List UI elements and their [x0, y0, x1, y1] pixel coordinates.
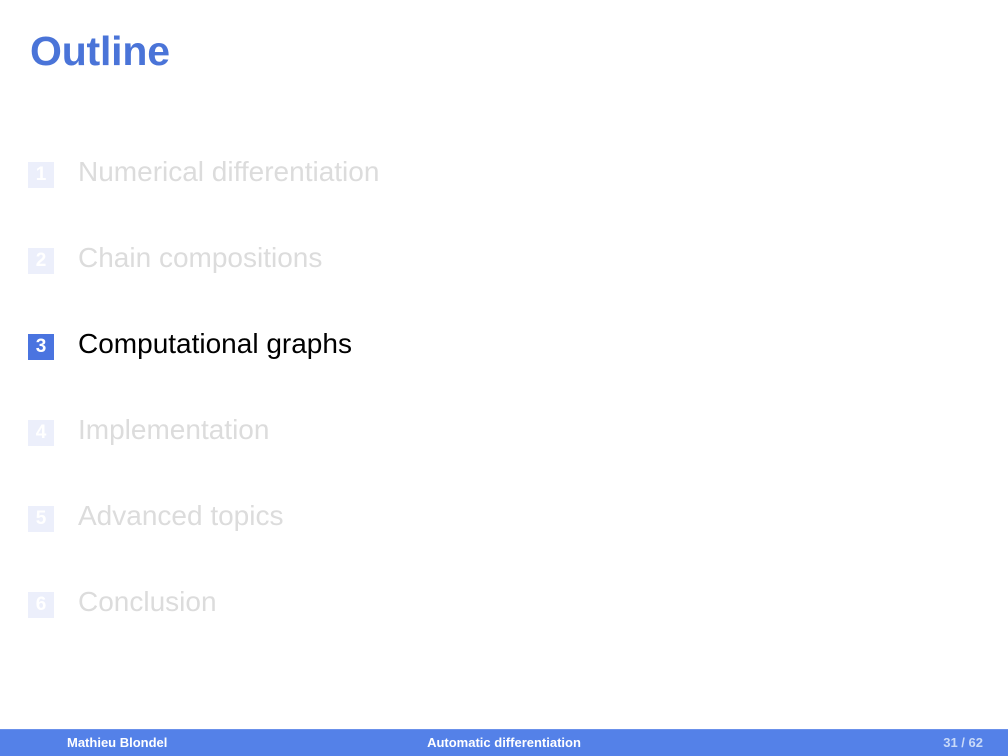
outline-item-number: 1 [28, 162, 54, 188]
outline-item-1[interactable]: 1 Numerical differentiation [0, 149, 1008, 235]
slide-canvas: Outline 1 Numerical differentiation 2 Ch… [0, 0, 1008, 756]
outline-item-number: 5 [28, 506, 54, 532]
outline-list: 1 Numerical differentiation 2 Chain comp… [0, 149, 1008, 665]
outline-item-5[interactable]: 5 Advanced topics [0, 493, 1008, 579]
outline-item-number: 3 [28, 334, 54, 360]
outline-item-2[interactable]: 2 Chain compositions [0, 235, 1008, 321]
outline-item-label: Conclusion [78, 585, 217, 619]
outline-item-number: 6 [28, 592, 54, 618]
footer-presentation-title: Automatic differentiation [0, 735, 1008, 750]
page-title: Outline [30, 30, 170, 73]
outline-item-number: 4 [28, 420, 54, 446]
footer-bar: Mathieu Blondel Automatic differentiatio… [0, 729, 1008, 756]
outline-item-number: 2 [28, 248, 54, 274]
outline-item-3[interactable]: 3 Computational graphs [0, 321, 1008, 407]
outline-item-4[interactable]: 4 Implementation [0, 407, 1008, 493]
outline-item-label: Implementation [78, 413, 269, 447]
outline-item-6[interactable]: 6 Conclusion [0, 579, 1008, 665]
footer-top-edge [0, 729, 1008, 730]
outline-item-label: Computational graphs [78, 327, 352, 361]
outline-item-label: Advanced topics [78, 499, 283, 533]
footer-page-number: 31 / 62 [943, 735, 983, 750]
outline-item-label: Numerical differentiation [78, 155, 379, 189]
outline-item-label: Chain compositions [78, 241, 322, 275]
